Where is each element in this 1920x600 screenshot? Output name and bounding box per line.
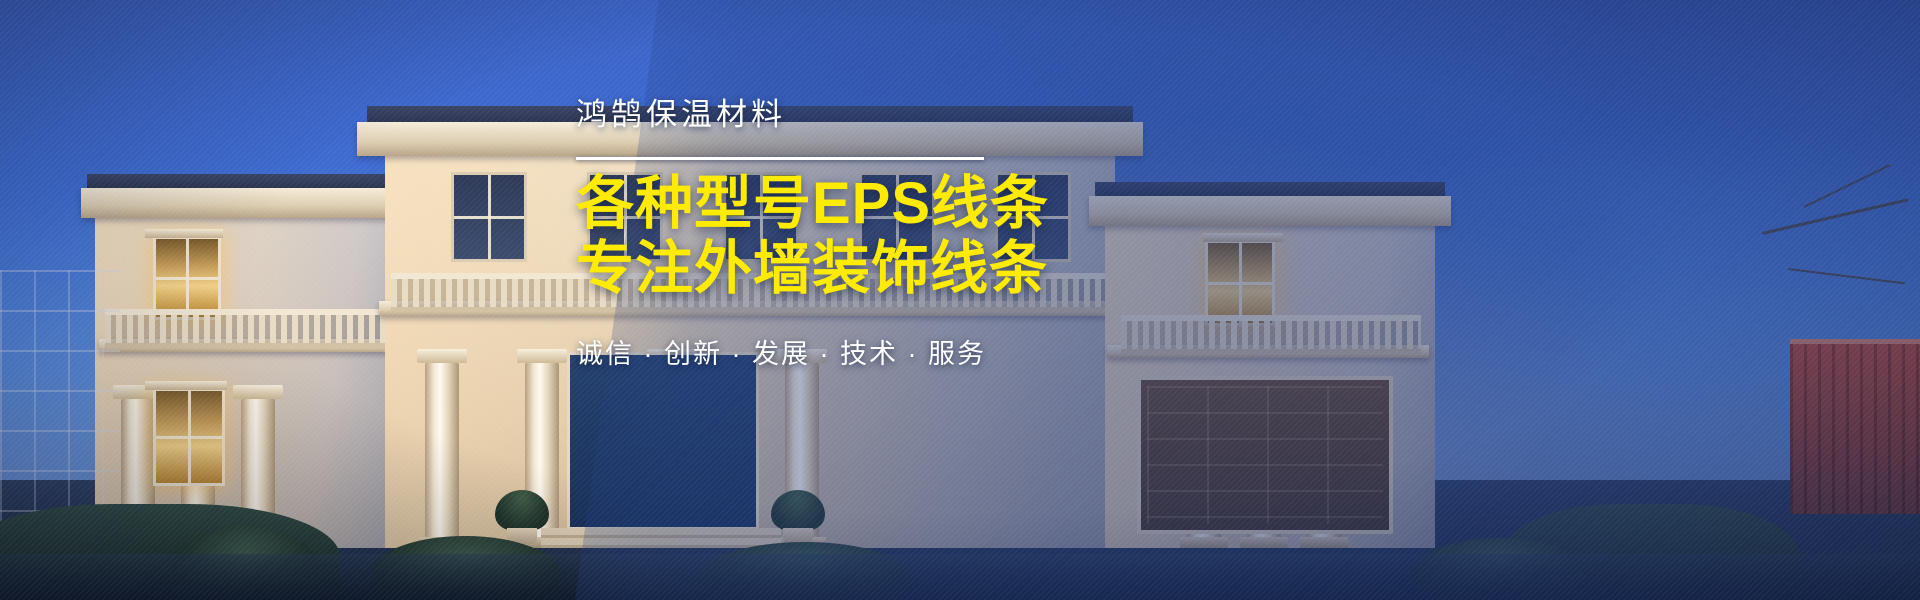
balustrade-left xyxy=(105,309,385,348)
banner-tagline: 诚信 · 创新 · 发展 · 技术 · 服务 xyxy=(576,332,1006,371)
divider-rule xyxy=(576,157,984,160)
window-hood-l-upper xyxy=(145,229,223,238)
window-hood-l-lower xyxy=(145,381,227,390)
right-wing-cornice xyxy=(1089,196,1451,226)
promo-banner: 鸿鹄保温材料 各种型号EPS线条 专注外墙装饰线条 诚信 · 创新 · 发展 ·… xyxy=(0,0,1920,600)
window-c1 xyxy=(451,172,527,262)
window-l-lower xyxy=(153,388,225,486)
banner-text-block: 鸿鹄保温材料 各种型号EPS线条 专注外墙装饰线条 诚信 · 创新 · 发展 ·… xyxy=(576,96,1006,371)
main-entrance xyxy=(567,352,759,530)
balustrade-right xyxy=(1121,315,1421,354)
garage-door xyxy=(1137,376,1393,534)
column-c1 xyxy=(425,362,459,548)
window-r-upper xyxy=(1205,240,1275,326)
window-l-upper xyxy=(153,236,221,320)
banner-subtitle: 鸿鹄保温材料 xyxy=(576,96,1006,135)
headline-line-2: 专注外墙装饰线条 xyxy=(576,237,1006,302)
red-container xyxy=(1790,339,1920,514)
lawn-strip xyxy=(0,554,1920,600)
scaffolding xyxy=(0,270,120,530)
window-hood-r-upper xyxy=(1203,233,1283,242)
headline-line-1: 各种型号EPS线条 xyxy=(576,172,1006,237)
entrance-steps xyxy=(541,528,781,548)
left-wing-cornice xyxy=(81,188,413,218)
